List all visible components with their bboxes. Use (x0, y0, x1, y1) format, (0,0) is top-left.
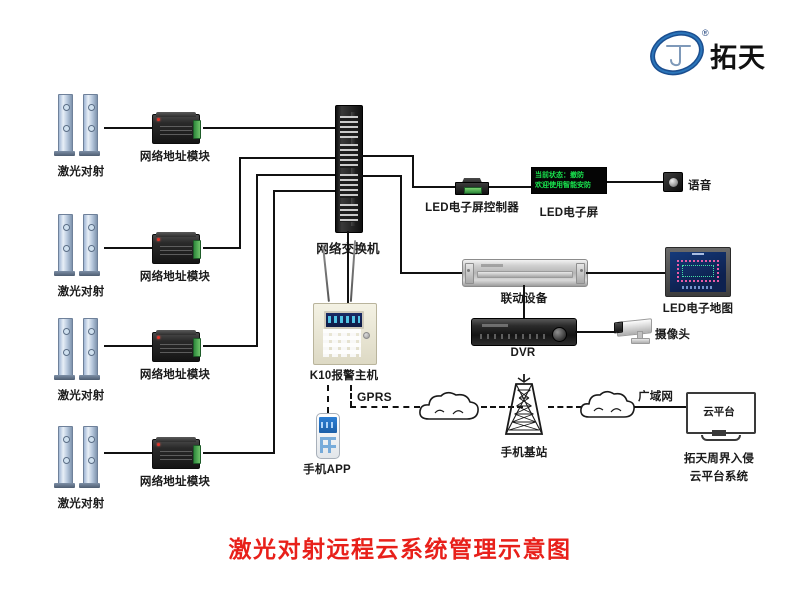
cloud-platform-monitor: 云平台 (686, 392, 752, 440)
wire-k10-gprs-b (350, 406, 420, 408)
led-screen-line2: 欢迎使用智能安防 (535, 180, 603, 190)
wire-module4-a (203, 452, 275, 454)
wire-ledctl-ledscreen (489, 186, 531, 188)
k10-label: K10报警主机 (310, 367, 379, 383)
wire-laser4-module4 (104, 452, 152, 454)
wire-switch-linkage-b (400, 175, 402, 274)
wire-cloud2-monitor (634, 406, 686, 408)
laser-label-2: 激光对射 (58, 283, 105, 299)
wire-k10-phone (327, 385, 329, 413)
wire-module2-b (239, 157, 241, 249)
wire-ledscreen-voice (607, 181, 663, 183)
voice-speaker (663, 172, 683, 192)
cloud-platform-text: 云平台 (686, 404, 752, 419)
wire-switch-linkage-a (361, 175, 402, 177)
network-module-label-3: 网络地址模块 (140, 366, 210, 382)
cell-tower-icon (496, 372, 552, 438)
surveillance-camera (613, 318, 657, 344)
wire-switch-ledctl-a (361, 155, 414, 157)
wire-laser3-module3 (104, 345, 152, 347)
wire-switch-linkage-c (400, 272, 462, 274)
cloud-system-label-line1: 拓天周界入侵 (684, 450, 754, 466)
led-map-label: LED电子地图 (663, 300, 733, 316)
network-address-module-1 (152, 114, 200, 144)
laser-barrier-2 (55, 212, 107, 276)
voice-label: 语音 (688, 177, 711, 193)
camera-label: 摄像头 (655, 326, 690, 342)
dvr-label: DVR (511, 347, 536, 359)
tuotian-logo-icon (650, 30, 706, 76)
wan-label: 广域网 (638, 388, 673, 404)
network-module-label-4: 网络地址模块 (140, 473, 210, 489)
wire-module4-c (273, 190, 337, 192)
wire-module2-a (203, 247, 241, 249)
wire-switch-k10 (347, 231, 349, 303)
led-screen-controller (455, 178, 489, 195)
wire-switch-ledctl-c (412, 186, 455, 188)
wire-switch-ledctl-b (412, 155, 414, 188)
cloud-icon-1 (415, 387, 483, 427)
dvr-device (471, 318, 577, 346)
led-screen-label: LED电子屏 (540, 204, 599, 220)
network-module-label-1: 网络地址模块 (140, 148, 210, 164)
cloud-system-label-line2: 云平台系统 (690, 468, 749, 484)
wire-module4-b (273, 190, 275, 454)
network-module-label-2: 网络地址模块 (140, 268, 210, 284)
wire-laser1-module1 (104, 127, 152, 129)
diagram-title: 激光对射远程云系统管理示意图 (0, 530, 800, 564)
wire-k10-gprs-a (350, 385, 352, 407)
wire-linkage-dvr (523, 285, 525, 318)
linkage-device (462, 259, 588, 287)
network-address-module-3 (152, 332, 200, 362)
gprs-label: GPRS (357, 390, 392, 404)
brand-name: 拓天 (710, 36, 766, 75)
network-address-module-2 (152, 234, 200, 264)
k10-alarm-host (313, 303, 377, 365)
wire-laser2-module2 (104, 247, 152, 249)
registered-mark-icon: ® (702, 28, 709, 38)
diagram-canvas: ® 拓天 激光对射 网络地址模块 激光对射 网络地址模块 激光对射 网络地址模块 (0, 0, 800, 600)
mobile-phone-app (316, 413, 340, 459)
laser-label-4: 激光对射 (58, 495, 105, 511)
laser-label-1: 激光对射 (58, 163, 105, 179)
base-station-label: 手机基站 (501, 444, 548, 460)
brand-logo: ® 拓天 (650, 30, 780, 80)
laser-barrier-3 (55, 316, 107, 380)
cloud-icon-2 (576, 387, 638, 425)
led-electronic-map (665, 247, 731, 297)
wire-module1-switch (203, 127, 337, 129)
led-screen-line1: 当前状态：撤防 (535, 170, 603, 180)
wire-module3-c (256, 174, 337, 176)
network-address-module-4 (152, 439, 200, 469)
led-display-screen: 当前状态：撤防 欢迎使用智能安防 (531, 167, 607, 194)
wire-module3-a (203, 345, 258, 347)
wire-module3-b (256, 174, 258, 347)
phone-app-label: 手机APP (303, 461, 351, 477)
wire-module2-c (239, 157, 337, 159)
network-switch (335, 105, 363, 233)
laser-barrier-4 (55, 424, 107, 488)
laser-label-3: 激光对射 (58, 387, 105, 403)
wire-dvr-camera (575, 331, 616, 333)
led-controller-label: LED电子屏控制器 (425, 199, 519, 215)
laser-barrier-1 (55, 92, 107, 156)
wire-linkage-ledmap (586, 272, 665, 274)
